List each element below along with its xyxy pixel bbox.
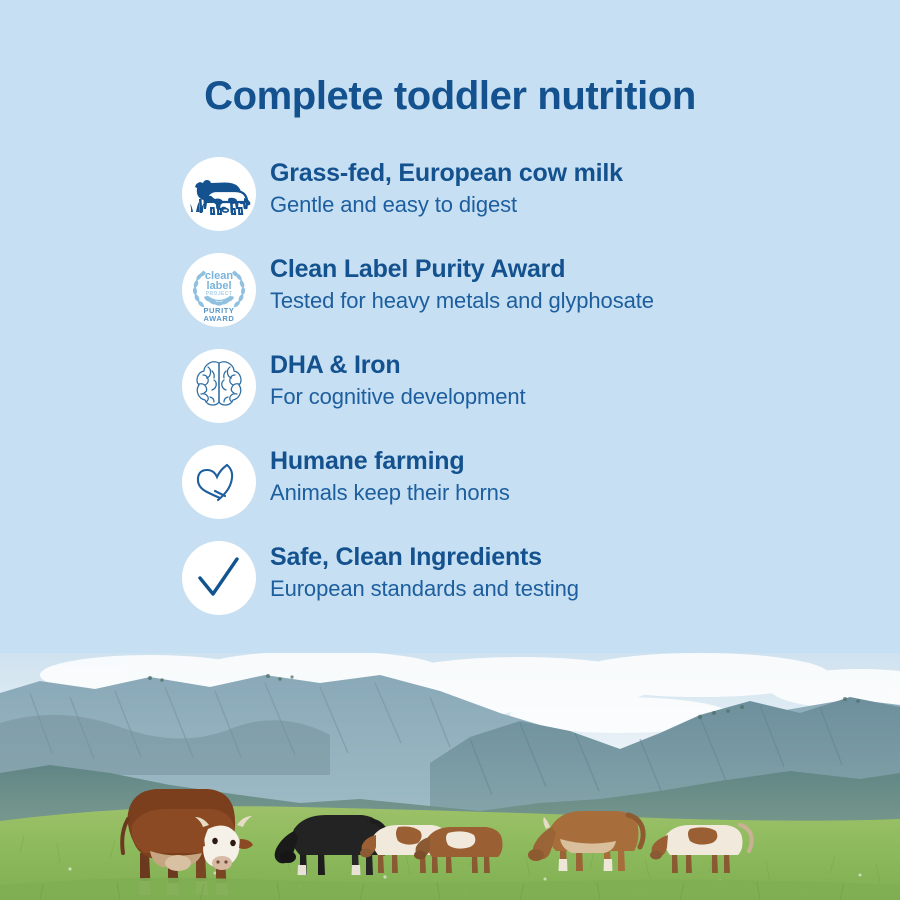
- feature-title: Grass-fed, European cow milk: [270, 158, 623, 189]
- feature-subtitle: European standards and testing: [270, 575, 579, 603]
- feature-text: DHA & Iron For cognitive development: [270, 350, 526, 410]
- clean-label-purity-award-icon: clean label PROJECT PURITY AWARD: [182, 253, 256, 327]
- feature-title: Safe, Clean Ingredients: [270, 542, 579, 573]
- list-item: Grass-fed, European cow milk Gentle and …: [182, 155, 882, 251]
- heart-icon: [182, 445, 256, 519]
- feature-text: Clean Label Purity Award Tested for heav…: [270, 254, 654, 314]
- feature-title: Humane farming: [270, 446, 510, 477]
- list-item: Safe, Clean Ingredients European standar…: [182, 539, 882, 635]
- feature-text: Humane farming Animals keep their horns: [270, 446, 510, 506]
- pasture-photo: [0, 653, 900, 900]
- feature-text: Safe, Clean Ingredients European standar…: [270, 542, 579, 602]
- page-title: Complete toddler nutrition: [0, 73, 900, 119]
- list-item: DHA & Iron For cognitive development: [182, 347, 882, 443]
- feature-title: Clean Label Purity Award: [270, 254, 654, 285]
- feature-subtitle: For cognitive development: [270, 383, 526, 411]
- feature-text: Grass-fed, European cow milk Gentle and …: [270, 158, 623, 218]
- feature-list: Grass-fed, European cow milk Gentle and …: [182, 155, 882, 635]
- checkmark-icon: [182, 541, 256, 615]
- badge-line-3: PROJECT: [206, 291, 232, 297]
- badge-line-5: AWARD: [204, 314, 235, 323]
- brain-icon: [182, 349, 256, 423]
- feature-subtitle: Tested for heavy metals and glyphosate: [270, 287, 654, 315]
- feature-subtitle: Animals keep their horns: [270, 479, 510, 507]
- list-item: Humane farming Animals keep their horns: [182, 443, 882, 539]
- feature-subtitle: Gentle and easy to digest: [270, 191, 623, 219]
- cow-icon: [182, 157, 256, 231]
- promo-panel: Complete toddler nutrition: [0, 0, 900, 900]
- list-item: clean label PROJECT PURITY AWARD Clean L…: [182, 251, 882, 347]
- feature-title: DHA & Iron: [270, 350, 526, 381]
